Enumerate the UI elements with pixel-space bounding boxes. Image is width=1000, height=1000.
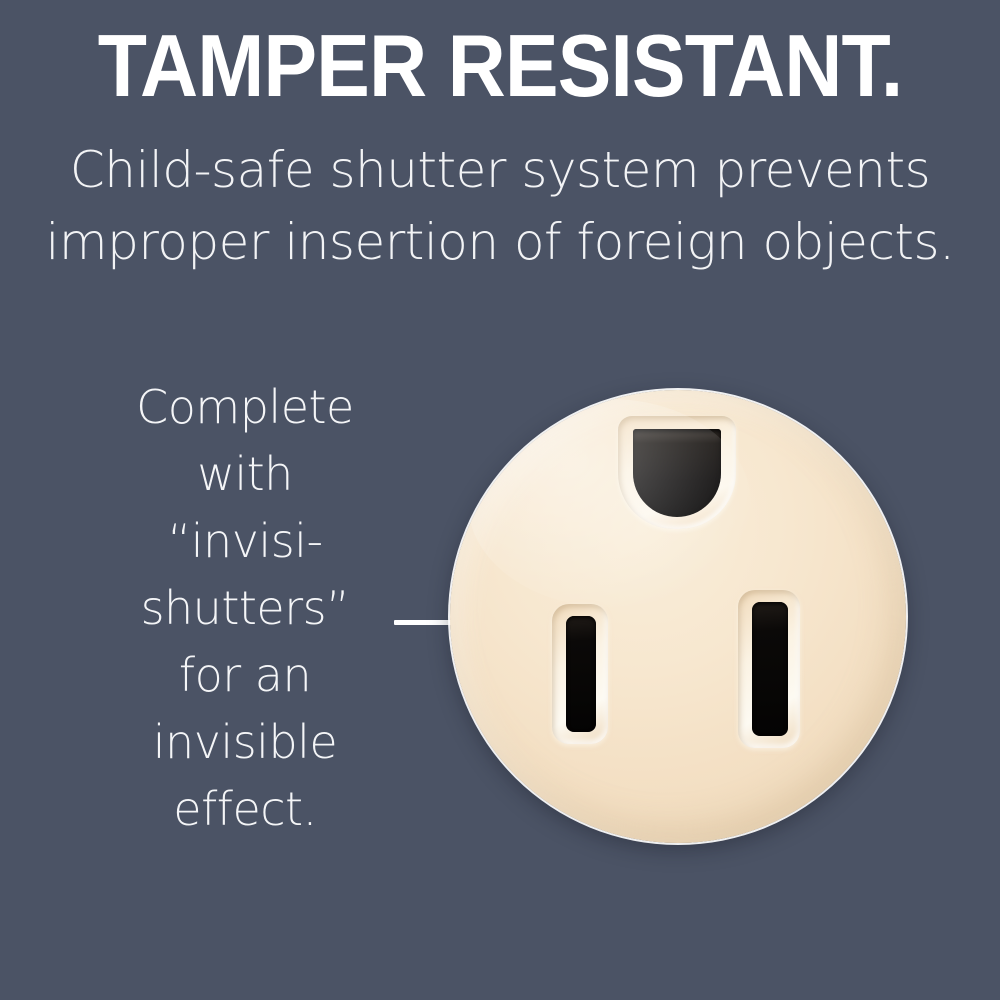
- subtitle: Child-safe shutter system prevents impro…: [0, 134, 1000, 278]
- annotation-caption: Complete with “invisi- shutters” for an …: [95, 374, 395, 843]
- caption-line-5: for an: [95, 642, 395, 709]
- ground-hole-bezel: [618, 416, 736, 529]
- caption-line-1: Complete: [95, 374, 395, 441]
- product-feature-graphic: TAMPER RESISTANT. Child-safe shutter sys…: [0, 0, 1000, 1000]
- outlet-illustration: [450, 390, 910, 847]
- caption-line-4: shutters”: [95, 575, 395, 642]
- neutral-slot: [752, 602, 788, 736]
- caption-line-6: invisible: [95, 709, 395, 776]
- neutral-slot-bezel: [738, 590, 800, 748]
- caption-line-3: “invisi-: [95, 508, 395, 575]
- subtitle-line-1: Child-safe shutter system prevents: [0, 134, 1000, 206]
- page-title: TAMPER RESISTANT.: [43, 18, 958, 114]
- subtitle-line-2: improper insertion of foreign objects.: [0, 206, 1000, 278]
- caption-line-2: with: [95, 441, 395, 508]
- hot-slot-bezel: [552, 604, 608, 744]
- caption-line-7: effect.: [95, 776, 395, 843]
- outlet-face: [450, 390, 906, 843]
- hot-slot: [566, 616, 596, 732]
- ground-hole: [633, 429, 721, 517]
